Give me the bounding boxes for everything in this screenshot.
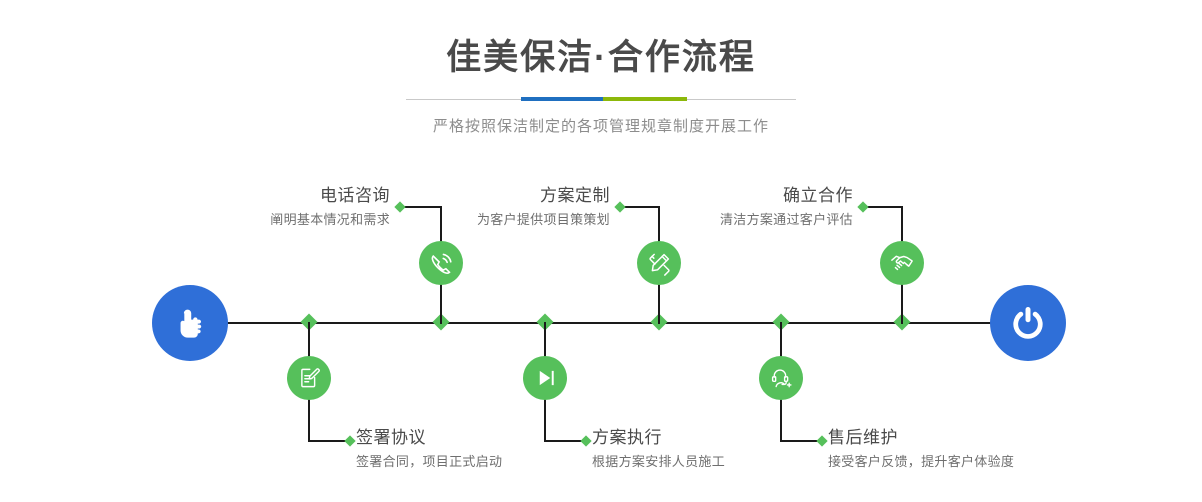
step-desc: 根据方案安排人员施工 <box>592 448 852 471</box>
power-icon <box>1006 301 1050 345</box>
process-timeline: 电话咨询 阐明基本情况和需求 签署协议 签署合同，项目正式启动 <box>0 0 1202 502</box>
step-label-4: 方案执行 根据方案安排人员施工 <box>592 428 852 471</box>
pointing-hand-icon <box>169 302 211 344</box>
step-node-1[interactable] <box>419 241 463 285</box>
step-title: 电话咨询 <box>170 186 390 206</box>
step-desc: 为客户提供项目策策划 <box>390 206 610 229</box>
pencil-design-icon <box>647 251 672 276</box>
flow-diagram-page: 佳美保洁·合作流程 严格按照保洁制定的各项管理规章制度开展工作 <box>0 0 1202 502</box>
step-title: 签署协议 <box>356 428 616 448</box>
phone-ring-icon <box>428 250 454 276</box>
step-node-5[interactable] <box>880 241 924 285</box>
step-label-3: 方案定制 为客户提供项目策策划 <box>390 186 610 229</box>
connector-horizontal <box>863 206 903 208</box>
connector-dot <box>614 201 625 212</box>
step-label-6: 售后维护 接受客户反馈，提升客户体验度 <box>828 428 1128 471</box>
handshake-icon <box>889 250 915 276</box>
step-desc: 签署合同，项目正式启动 <box>356 448 616 471</box>
step-title: 售后维护 <box>828 428 1128 448</box>
step-node-6[interactable] <box>759 356 803 400</box>
step-desc: 接受客户反馈，提升客户体验度 <box>828 448 1128 471</box>
step-node-2[interactable] <box>287 356 331 400</box>
document-sign-icon <box>297 366 321 390</box>
step-node-3[interactable] <box>637 241 681 285</box>
step-label-1: 电话咨询 阐明基本情况和需求 <box>170 186 390 229</box>
step-desc: 清洁方案通过客户评估 <box>633 206 853 229</box>
step-title: 方案执行 <box>592 428 852 448</box>
step-desc: 阐明基本情况和需求 <box>170 206 390 229</box>
step-label-5: 确立合作 清洁方案通过客户评估 <box>633 186 853 229</box>
step-label-2: 签署协议 签署合同，项目正式启动 <box>356 428 616 471</box>
timeline-start-node[interactable] <box>152 285 228 361</box>
headset-support-icon <box>769 366 793 390</box>
connector-dot <box>344 435 355 446</box>
step-title: 确立合作 <box>633 186 853 206</box>
connector-dot <box>857 201 868 212</box>
timeline-end-node[interactable] <box>990 285 1066 361</box>
step-title: 方案定制 <box>390 186 610 206</box>
play-execute-icon <box>533 366 557 390</box>
step-node-4[interactable] <box>523 356 567 400</box>
